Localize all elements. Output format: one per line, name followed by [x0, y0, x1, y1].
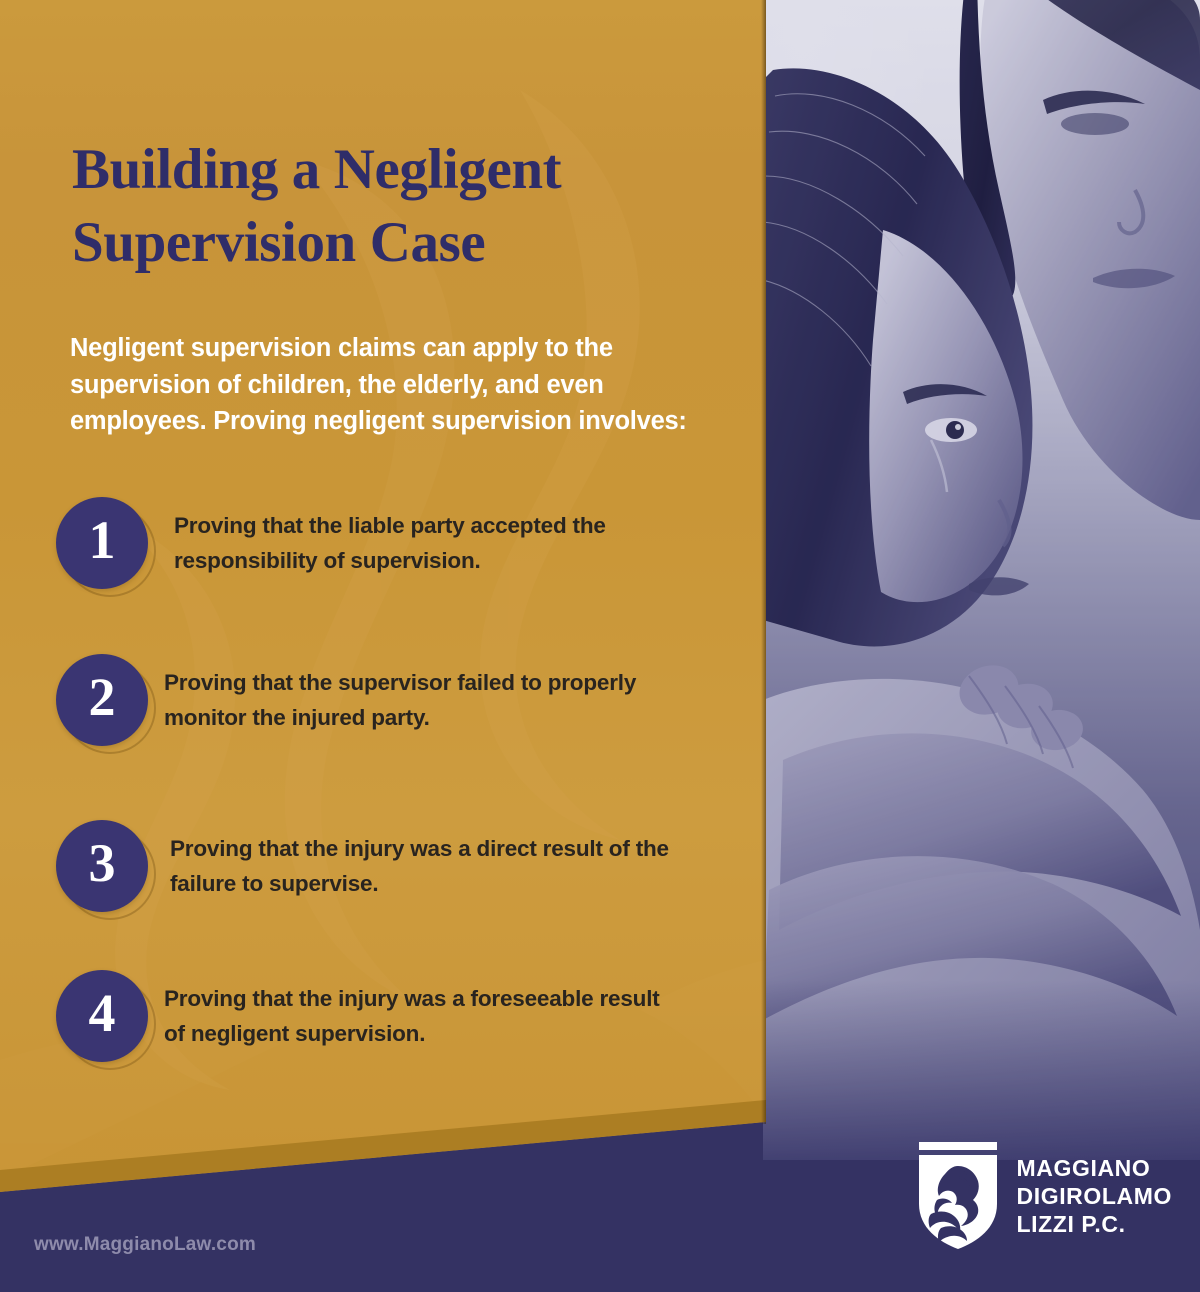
website-url[interactable]: www.MaggianoLaw.com — [34, 1234, 256, 1256]
step-3-line-1: Proving that the injury was a direct res… — [170, 832, 748, 867]
step-number-badge-3: 3 — [56, 820, 148, 912]
step-badge-wrap-2: 2 — [52, 652, 164, 756]
step-1-line-1: Proving that the liable party accepted t… — [174, 509, 752, 544]
step-text-2: Proving that the supervisor failed to pr… — [164, 666, 742, 736]
step-2-line-1: Proving that the supervisor failed to pr… — [164, 666, 742, 701]
step-number-1: 1 — [89, 513, 116, 567]
step-badge-wrap-1: 1 — [52, 495, 164, 599]
steps-list: 1 Proving that the liable party accepted… — [0, 0, 766, 1120]
step-4-line-2: of negligent supervision. — [164, 1017, 742, 1052]
infographic-canvas: Building a Negligent Supervision Case Ne… — [0, 0, 1200, 1292]
step-text-4: Proving that the injury was a foreseeabl… — [164, 982, 742, 1052]
firm-name-line-2: DIGIROLAMO — [1017, 1182, 1173, 1210]
step-badge-wrap-4: 4 — [52, 968, 164, 1072]
step-3-line-2: failure to supervise. — [170, 867, 748, 902]
step-text-1: Proving that the liable party accepted t… — [174, 509, 752, 579]
step-4-line-1: Proving that the injury was a foreseeabl… — [164, 982, 742, 1017]
step-number-badge-2: 2 — [56, 654, 148, 746]
step-item-4: 4 Proving that the injury was a foreseea… — [52, 968, 752, 1088]
firm-logo[interactable]: MAGGIANO DIGIROLAMO LIZZI P.C. — [915, 1142, 1173, 1250]
step-2-line-2: monitor the injured party. — [164, 701, 742, 736]
gold-panel-right-edge — [761, 0, 766, 1124]
firm-name-line-3: LIZZI P.C. — [1017, 1210, 1173, 1238]
step-number-2: 2 — [89, 670, 116, 724]
lion-shield-icon — [915, 1142, 1001, 1250]
step-number-badge-1: 1 — [56, 497, 148, 589]
step-item-1: 1 Proving that the liable party accepted… — [52, 495, 752, 615]
step-1-line-2: responsibility of supervision. — [174, 544, 752, 579]
firm-name-line-1: MAGGIANO — [1017, 1154, 1173, 1182]
step-number-badge-4: 4 — [56, 970, 148, 1062]
photo-duotone-illustration — [763, 0, 1200, 1160]
step-number-4: 4 — [89, 986, 116, 1040]
step-text-3: Proving that the injury was a direct res… — [170, 832, 748, 902]
hero-photo — [763, 0, 1200, 1160]
step-item-2: 2 Proving that the supervisor failed to … — [52, 652, 752, 772]
firm-name: MAGGIANO DIGIROLAMO LIZZI P.C. — [1017, 1154, 1173, 1238]
step-item-3: 3 Proving that the injury was a direct r… — [52, 818, 752, 938]
step-number-3: 3 — [89, 836, 116, 890]
gold-content-panel: Building a Negligent Supervision Case Ne… — [0, 0, 766, 1200]
step-badge-wrap-3: 3 — [52, 818, 164, 922]
